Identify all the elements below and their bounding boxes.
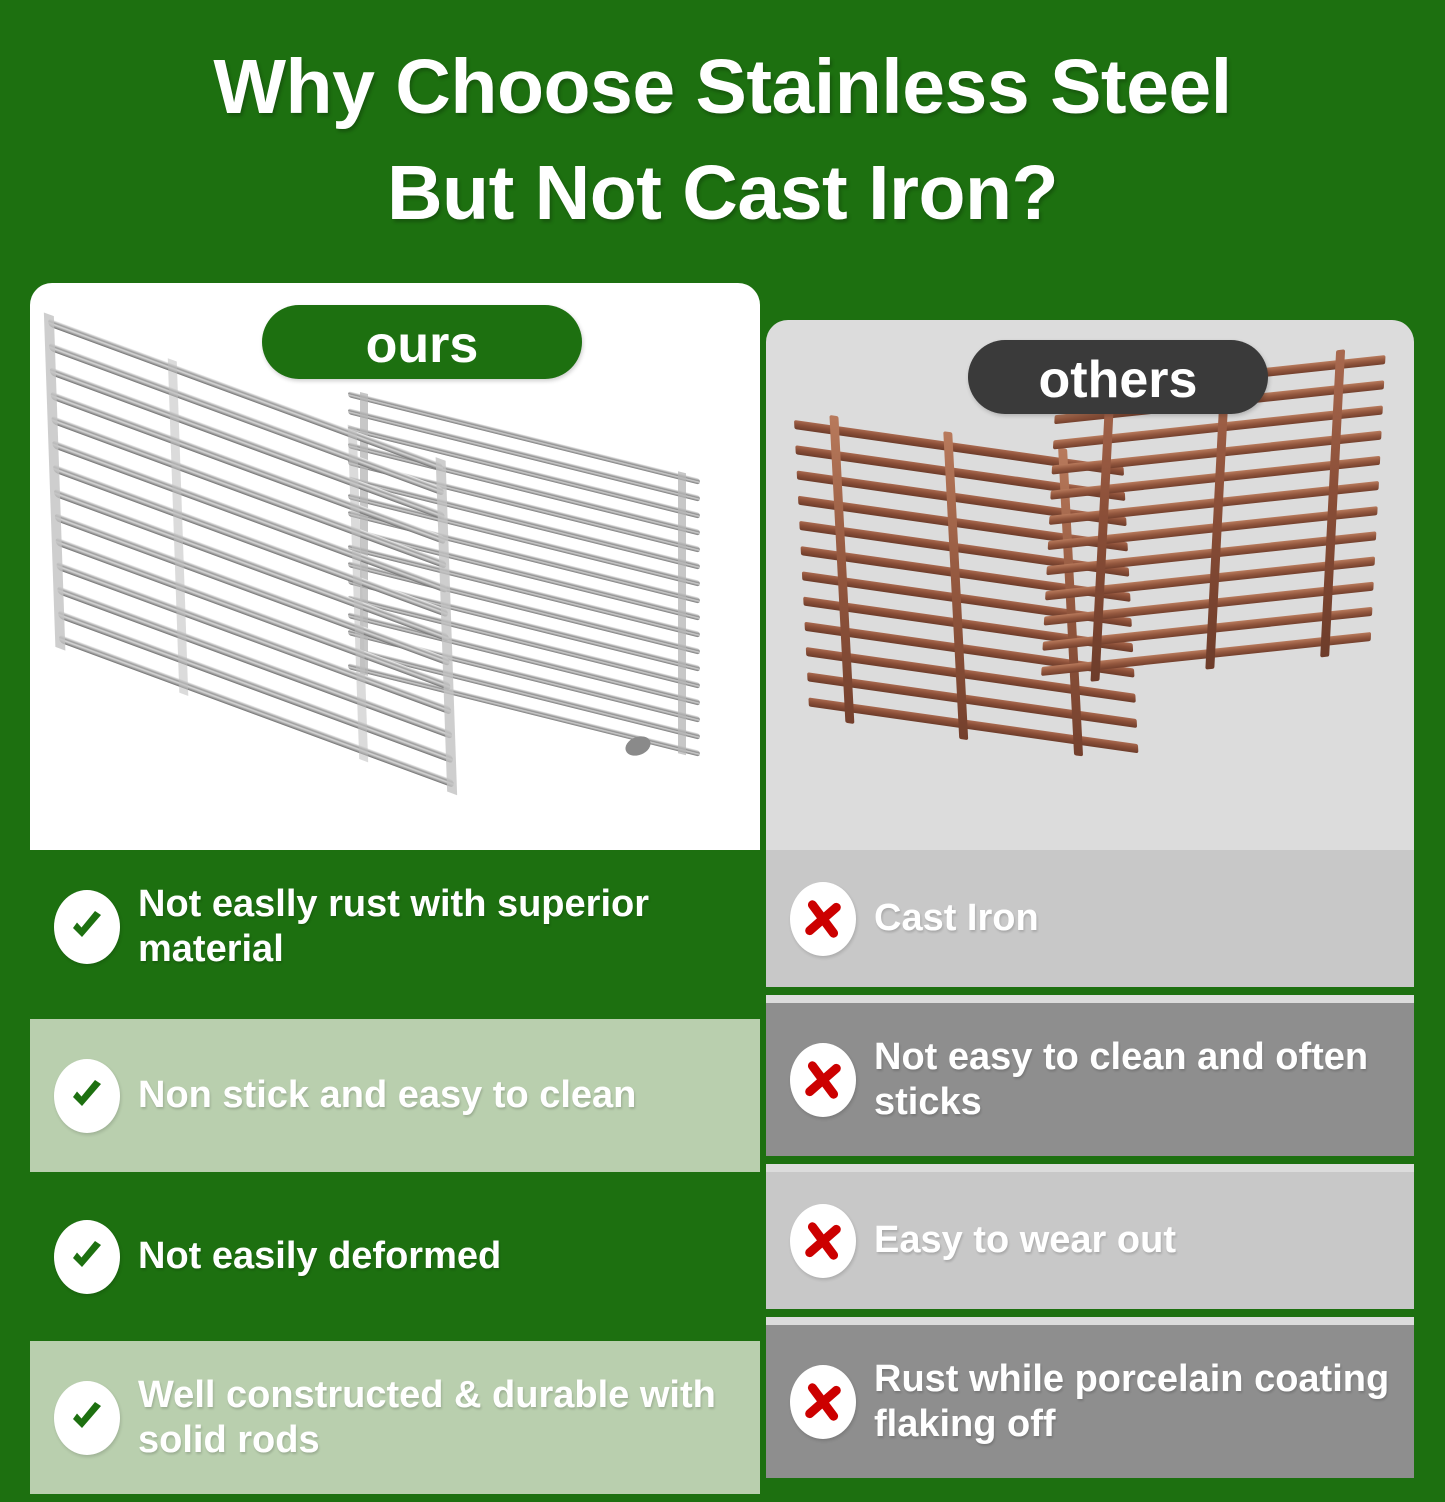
cross-icon: [790, 882, 856, 956]
row-divider: [30, 1333, 760, 1341]
column-others: others: [766, 283, 1414, 1486]
check-icon: [54, 1220, 120, 1294]
feature-row-others-1[interactable]: Cast Iron: [766, 850, 1414, 987]
feature-label: Not easily deformed: [120, 1234, 511, 1278]
cross-icon: [790, 1204, 856, 1278]
row-divider: [766, 995, 1414, 1003]
cross-icon: [790, 1365, 856, 1439]
title-line-1: Why Choose Stainless Steel: [0, 34, 1445, 140]
row-divider: [30, 1180, 760, 1188]
column-ours: ours: [30, 283, 760, 1502]
badge-ours: ours: [262, 305, 582, 379]
feature-label: Rust while porcelain coating flaking off: [856, 1357, 1414, 1446]
row-divider: [766, 1317, 1414, 1325]
check-icon: [54, 890, 120, 964]
feature-label: Not easlly rust with superior material: [120, 882, 760, 971]
feature-label: Cast Iron: [856, 896, 1049, 940]
badge-others: others: [968, 340, 1268, 414]
feature-row-others-2[interactable]: Not easy to clean and often sticks: [766, 1003, 1414, 1156]
check-icon: [54, 1381, 120, 1455]
feature-label: Not easy to clean and often sticks: [856, 1035, 1414, 1124]
ours-feature-list: Not easlly rust with superior material N…: [30, 850, 760, 1494]
comparison-grid: ours: [0, 283, 1445, 1445]
ours-image-panel: ours: [30, 283, 760, 850]
row-divider: [766, 1164, 1414, 1172]
feature-label: Well constructed & durable with solid ro…: [120, 1373, 760, 1462]
feature-row-others-3[interactable]: Easy to wear out: [766, 1172, 1414, 1309]
others-feature-list: Cast Iron Not easy to clean and often st…: [766, 850, 1414, 1478]
feature-label: Easy to wear out: [856, 1218, 1186, 1262]
title-line-2: But Not Cast Iron?: [0, 140, 1445, 246]
feature-row-others-4[interactable]: Rust while porcelain coating flaking off: [766, 1325, 1414, 1478]
feature-row-ours-3[interactable]: Not easily deformed: [0, 1188, 760, 1325]
feature-row-ours-4[interactable]: Well constructed & durable with solid ro…: [30, 1341, 760, 1494]
feature-row-ours-2[interactable]: Non stick and easy to clean: [30, 1019, 760, 1172]
cross-icon: [790, 1043, 856, 1117]
check-icon: [54, 1059, 120, 1133]
feature-row-ours-1[interactable]: Not easlly rust with superior material: [0, 850, 760, 1003]
row-divider: [30, 1011, 760, 1019]
page-title: Why Choose Stainless Steel But Not Cast …: [0, 0, 1445, 247]
feature-label: Non stick and easy to clean: [120, 1073, 646, 1117]
others-image-panel: others: [766, 320, 1414, 850]
